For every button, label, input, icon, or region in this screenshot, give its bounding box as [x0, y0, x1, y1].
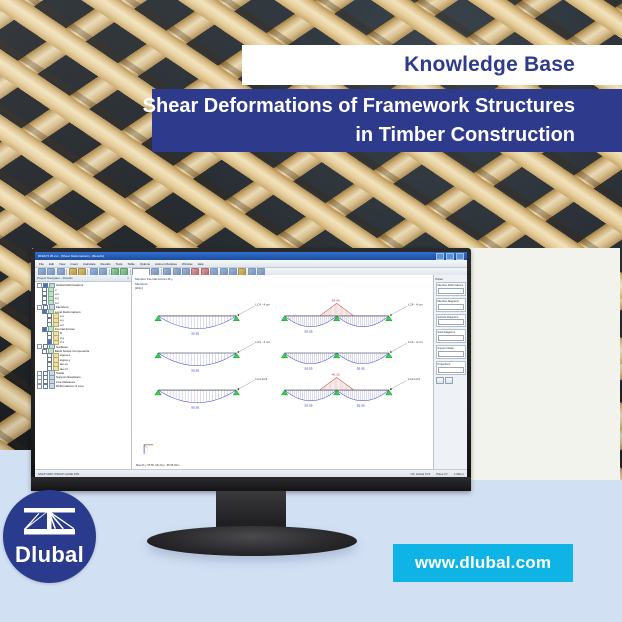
diagram-value-label: -40.10: [331, 372, 340, 376]
model-canvas[interactable]: Member Internal Forces M-y Members [kNm]…: [132, 275, 433, 470]
panel-group[interactable]: Surface Diagrams: [436, 314, 466, 328]
navigator-header-text: Project Navigator - Results: [37, 276, 73, 280]
panel-group-label: Support Strain: [438, 347, 464, 350]
diagram-value-label: 55.55: [357, 367, 365, 371]
knowledge-base-band: Knowledge Base: [242, 45, 622, 85]
support-icon: [333, 353, 339, 358]
support-icon: [233, 353, 239, 358]
navigator-item-label: tau-xy: [60, 362, 68, 366]
panel-group[interactable]: Member Diagrams: [436, 298, 466, 312]
project-navigator[interactable]: Project Navigator - Results × Global Def…: [35, 275, 132, 470]
menu-item-help[interactable]: Help: [198, 262, 204, 266]
navigator-item-label: V-z: [60, 340, 64, 344]
leader-line: [391, 343, 407, 352]
diagram-value-label: -54.00: [331, 298, 340, 302]
menu-item-calculate[interactable]: Calculate: [83, 262, 96, 266]
diagram-value-label: LC4 - 4 cm: [408, 303, 423, 307]
panel-group-field[interactable]: [438, 351, 464, 357]
status-right-group: CS: Global XYZ Plane XY 1.000 m: [410, 472, 464, 476]
truss-bridge-icon: [21, 506, 78, 540]
leader-line: [391, 380, 407, 389]
navigator-item-label: Line Releases: [56, 380, 75, 384]
panel-group[interactable]: Member Deformations: [436, 282, 466, 296]
menu-item-edit[interactable]: Edit: [49, 262, 54, 266]
menu-item-file[interactable]: File: [39, 262, 44, 266]
panel-reset-icon[interactable]: [445, 377, 453, 384]
navigator-item-label: u-z: [55, 301, 59, 305]
page-title-line2: in Timber Construction: [355, 121, 575, 149]
diagram-value-label: 55.55: [305, 367, 313, 371]
panel-group-field[interactable]: [438, 319, 464, 325]
diagram-value-label: 55.55: [305, 330, 313, 334]
website-url-label: www.dlubal.com: [415, 553, 551, 573]
menu-item-options[interactable]: Options: [140, 262, 150, 266]
navigator-item-label: Deformations of Line: [56, 384, 84, 388]
leader-anchor: [390, 388, 392, 390]
leader-anchor: [238, 388, 240, 390]
diagram-value-label: 55.55: [191, 406, 199, 410]
canvas-footer-text: Max M-y: 55.55, Min M-y: -55.55 kNm: [136, 464, 179, 467]
panel-group-field[interactable]: [438, 367, 464, 373]
support-icon: [155, 316, 161, 321]
dlubal-wordmark: Dlubal: [15, 542, 84, 568]
navigator-item-label: tau-xz: [60, 367, 68, 371]
work-area: Project Navigator - Results × Global Def…: [35, 275, 467, 470]
navigator-item-label: Surfaces: [56, 345, 68, 349]
navigator-item-label: Members: [56, 305, 69, 309]
navigator-item-label: N: [60, 331, 62, 335]
monitor-screen: RFEM 5.05.xxx - [Shear Deformations] - […: [35, 252, 467, 477]
navigator-tree[interactable]: Global Deformationsuu-xu-yu-zMembersLoca…: [35, 282, 131, 470]
menu-item-results[interactable]: Results: [101, 262, 111, 266]
support-icon: [281, 390, 287, 395]
navigator-item-label: u-x: [60, 314, 64, 318]
leader-line: [238, 343, 254, 352]
checkbox-icon[interactable]: [43, 384, 48, 389]
leader-line: [238, 380, 254, 389]
navigator-item-label: V-y: [60, 336, 64, 340]
app-title-bar: RFEM 5.05.xxx - [Shear Deformations] - […: [35, 252, 467, 260]
support-icon: [386, 316, 392, 321]
menu-item-tools[interactable]: Tools: [116, 262, 123, 266]
support-icon: [386, 390, 392, 395]
expand-toggle-icon[interactable]: [37, 384, 42, 389]
navigator-item[interactable]: Deformations of Line: [37, 384, 129, 388]
monitor: RFEM 5.05.xxx - [Shear Deformations] - […: [31, 248, 471, 548]
support-icon: [233, 390, 239, 395]
navigator-item-label: Global Deformations: [56, 283, 83, 287]
page-title-line1: Shear Deformations of Framework Structur…: [143, 92, 575, 120]
support-icon: [281, 316, 287, 321]
status-bar: SNAP GRID OSNAP GLINE DXF CS: Global XYZ…: [35, 469, 467, 477]
menu-item-addon-modules[interactable]: Add-on Modules: [155, 262, 177, 266]
minimize-icon[interactable]: [436, 253, 444, 260]
beam-diagrams: 55.55LC4 - 4 cm55.55LC3 - 4 cm55.55LC1-L…: [132, 275, 433, 470]
leader-anchor: [390, 314, 392, 316]
maximize-icon[interactable]: [446, 253, 454, 260]
monitor-bezel: RFEM 5.05.xxx - [Shear Deformations] - […: [31, 248, 471, 491]
support-icon: [333, 390, 339, 395]
support-icon: [155, 390, 161, 395]
menu-item-table[interactable]: Table: [128, 262, 135, 266]
title-band: Shear Deformations of Framework Structur…: [152, 89, 622, 152]
panel-apply-icon[interactable]: [436, 377, 444, 384]
support-icon: [155, 353, 161, 358]
navigator-close-icon[interactable]: ×: [127, 276, 129, 280]
tree-node-icon: [49, 383, 54, 388]
menu-item-window[interactable]: Window: [182, 262, 193, 266]
monitor-chin: [31, 477, 471, 491]
panel-group-label: Projections: [438, 363, 464, 366]
support-icon: [333, 316, 339, 321]
app-title-text: RFEM 5.05.xxx - [Shear Deformations] - […: [38, 254, 104, 258]
navigator-item-label: u-z: [60, 323, 64, 327]
diagram-value-label: 55.55: [357, 404, 365, 408]
monitor-stand-base: [147, 526, 357, 556]
diagram-value-label: LC3 - 4 cm: [408, 340, 423, 344]
navigator-item-label: sigma-y: [60, 358, 71, 362]
navigator-item-label: sigma-x: [60, 353, 71, 357]
status-coords-text: 1.000 m: [454, 472, 464, 476]
diagram-value-label: 55.55: [191, 369, 199, 373]
navigator-item-label: u-y: [55, 296, 59, 300]
window-controls[interactable]: [436, 253, 464, 260]
rfem-application-window: RFEM 5.05.xxx - [Shear Deformations] - […: [35, 252, 467, 477]
panel-group-label: Member Diagrams: [438, 300, 464, 303]
panel-group-field[interactable]: [438, 304, 464, 310]
menu-item-insert[interactable]: Insert: [70, 262, 78, 266]
diagram-value-label: LC1-LC4: [255, 377, 267, 381]
panel-group-label: Surface Diagrams: [438, 316, 464, 319]
dlubal-logo[interactable]: Dlubal: [3, 490, 96, 583]
panel-group[interactable]: Solid Diagrams: [436, 329, 466, 343]
status-cs-text: CS: Global XYZ: [410, 472, 430, 476]
support-icon: [281, 353, 287, 358]
panel-header: Panel: [436, 277, 466, 281]
diagram-value-label: LC3 - 4 cm: [255, 340, 270, 344]
poster-canvas: Knowledge Base Shear Deformations of Fra…: [0, 0, 622, 622]
panel-group-field[interactable]: [438, 288, 464, 294]
status-left-text: SNAP GRID OSNAP GLINE DXF: [38, 472, 79, 476]
menu-bar[interactable]: File Edit View Insert Calculate Results …: [35, 260, 467, 268]
navigator-item-label: Solids: [56, 371, 64, 375]
navigator-item-label: Local Deformations: [55, 310, 81, 314]
leader-line: [391, 306, 407, 315]
status-plane-text: Plane XY: [436, 472, 448, 476]
navigator-item-label: u-y: [60, 318, 64, 322]
navigator-item-label: u: [55, 288, 57, 292]
leader-anchor: [390, 351, 392, 353]
website-url-button[interactable]: www.dlubal.com: [393, 544, 573, 582]
leader-line: [238, 306, 254, 315]
diagram-value-label: 55.55: [305, 404, 313, 408]
close-icon[interactable]: [456, 253, 464, 260]
diagram-value-label: 55.55: [191, 332, 199, 336]
panel-group-field[interactable]: [438, 335, 464, 341]
support-icon: [233, 316, 239, 321]
panel-group[interactable]: Support Strain: [436, 345, 466, 359]
menu-item-view[interactable]: View: [59, 262, 65, 266]
diagram-value-label: LC1-LC4: [408, 377, 420, 381]
kicker-text: Knowledge Base: [404, 53, 575, 77]
results-panel[interactable]: Panel Member Deformations Member Diagram…: [433, 275, 467, 470]
photo-bottom-left-cut: [0, 450, 32, 480]
panel-group[interactable]: Projections: [436, 361, 466, 375]
support-icon: [386, 353, 392, 358]
navigator-item-label: Support Reactions: [56, 375, 81, 379]
diagram-value-label: LC4 - 4 cm: [255, 303, 270, 307]
navigator-item-label: u-x: [55, 292, 59, 296]
panel-group-label: Solid Diagrams: [438, 331, 464, 334]
leader-anchor: [238, 351, 240, 353]
xyz-axis-icon: [142, 442, 156, 456]
navigator-header: Project Navigator - Results ×: [35, 275, 131, 282]
leader-anchor: [238, 314, 240, 316]
navigator-item-label: Basic Stress Components: [55, 349, 90, 353]
panel-group-label: Member Deformations: [438, 284, 464, 287]
panel-button-row[interactable]: [436, 377, 466, 384]
